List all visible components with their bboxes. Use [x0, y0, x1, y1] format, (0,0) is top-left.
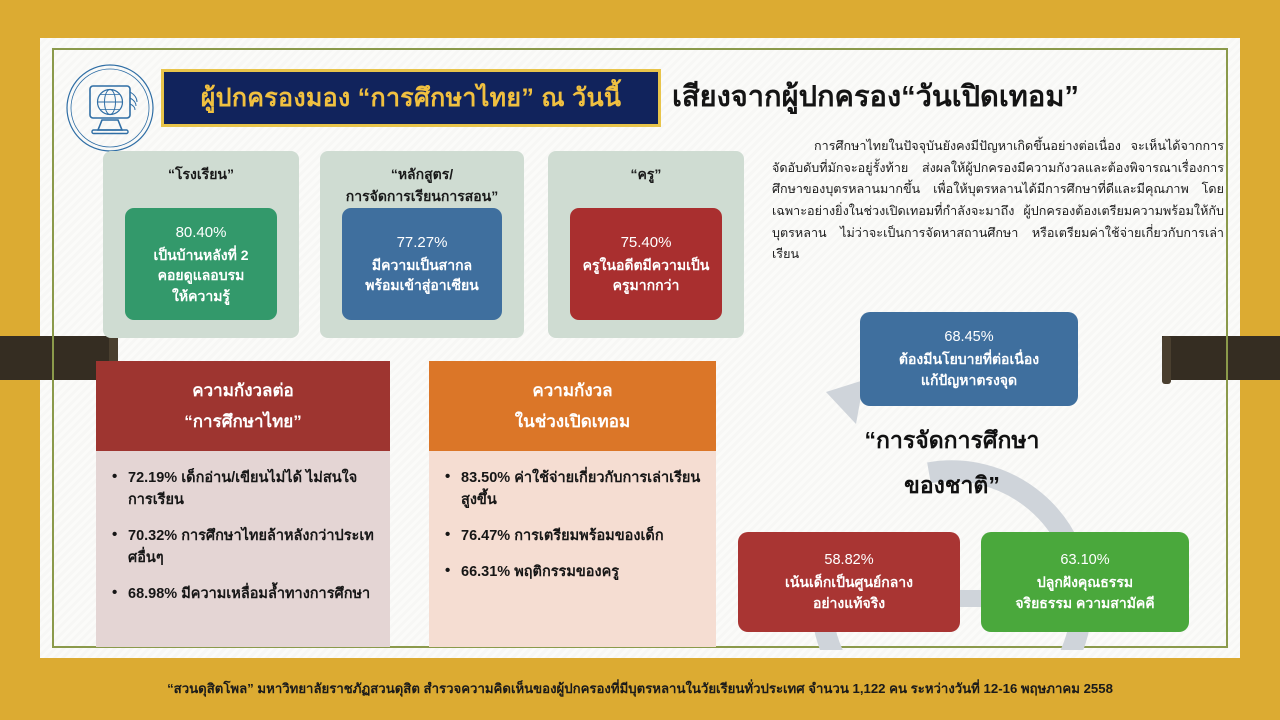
list-item: 76.47% การเตรียมพร้อมของเด็ก: [437, 525, 702, 547]
stat-percent: 80.40%: [176, 222, 227, 244]
header-subtitle: เสียงจากผู้ปกครอง“วันเปิดเทอม”: [672, 73, 1224, 119]
cycle-node-line: เน้นเด็กเป็นศูนย์กลาง: [785, 572, 913, 593]
stat-percent: 77.27%: [397, 232, 448, 254]
panel-header: ความกังวล ในช่วงเปิดเทอม: [429, 361, 716, 451]
stat-card-heading: “ครู”: [548, 164, 744, 186]
panel-header: ความกังวลต่อ “การศึกษาไทย”: [96, 361, 390, 451]
stat-card-school: “โรงเรียน” 80.40% เป็นบ้านหลังที่ 2 คอยด…: [103, 151, 299, 338]
cycle-node-percent: 68.45%: [944, 327, 993, 349]
panel-concern-school-opening: ความกังวล ในช่วงเปิดเทอม 83.50% ค่าใช้จ่…: [429, 361, 716, 647]
cycle-node-line: ต้องมีนโยบายที่ต่อเนื่อง: [899, 349, 1039, 370]
list-item: 66.31% พฤติกรรมของครู: [437, 561, 702, 583]
stat-desc-line: ครูมากกว่า: [613, 275, 680, 295]
panel-concern-thai-education: ความกังวลต่อ “การศึกษาไทย” 72.19% เด็กอ่…: [96, 361, 390, 647]
stat-card-heading-line1: “หลักสูตร/: [320, 164, 524, 186]
panel-list: 83.50% ค่าใช้จ่ายเกี่ยวกับการเล่าเรียนสู…: [437, 467, 702, 583]
cycle-node-line: อย่างแท้จริง: [813, 593, 885, 614]
cycle-node-line: แก้ปัญหาตรงจุด: [921, 370, 1017, 391]
intro-paragraph: การศึกษาไทยในปัจจุบันยังคงมีปัญหาเกิดขึ้…: [772, 136, 1224, 266]
cycle-node-percent: 58.82%: [824, 550, 873, 572]
stat-percent: 75.40%: [621, 232, 672, 254]
panel-header-line1: ความกังวล: [532, 375, 612, 406]
stat-card-curriculum: “หลักสูตร/ การจัดการเรียนการสอน” 77.27% …: [320, 151, 524, 338]
panel-body: 83.50% ค่าใช้จ่ายเกี่ยวกับการเล่าเรียนสู…: [429, 451, 716, 647]
stat-desc-line: พร้อมเข้าสู่อาเซียน: [365, 275, 478, 295]
stat-card-heading: “หลักสูตร/ การจัดการเรียนการสอน”: [320, 164, 524, 207]
header-title-box: ผู้ปกครองมอง “การศึกษาไทย” ณ วันนี้: [161, 69, 661, 127]
cycle-node-line: ปลูกฝังคุณธรรม: [1037, 572, 1133, 593]
cycle-node-child-centered: 58.82% เน้นเด็กเป็นศูนย์กลาง อย่างแท้จริ…: [738, 532, 960, 632]
panel-body: 72.19% เด็กอ่าน/เขียนไม่ได้ ไม่สนใจการเร…: [96, 451, 390, 647]
stat-card-heading: “โรงเรียน”: [103, 164, 299, 186]
stat-desc-line: มีความเป็นสากล: [372, 255, 472, 275]
cycle-center-line1: “การจัดการศึกษา: [752, 418, 1152, 463]
panel-list: 72.19% เด็กอ่าน/เขียนไม่ได้ ไม่สนใจการเร…: [104, 467, 376, 605]
cycle-node-policy: 68.45% ต้องมีนโยบายที่ต่อเนื่อง แก้ปัญหา…: [860, 312, 1078, 406]
infographic-root: ผู้ปกครองมอง “การศึกษาไทย” ณ วันนี้ เสีย…: [0, 0, 1280, 720]
panel-header-line2: “การศึกษาไทย”: [184, 406, 302, 437]
cycle-diagram: 68.45% ต้องมีนโยบายที่ต่อเนื่อง แก้ปัญหา…: [730, 300, 1190, 650]
stat-card-heading-line2: การจัดการเรียนการสอน”: [320, 186, 524, 208]
list-item: 70.32% การศึกษาไทยล้าหลังกว่าประเทศอื่นๆ: [104, 525, 376, 569]
stat-card-value-box: 80.40% เป็นบ้านหลังที่ 2 คอยดูแลอบรม ให้…: [125, 208, 277, 320]
stat-desc-line: ให้ความรู้: [172, 286, 230, 306]
university-seal-icon: [64, 62, 156, 154]
stat-card-teacher: “ครู” 75.40% ครูในอดีตมีความเป็น ครูมากก…: [548, 151, 744, 338]
cycle-center-line2: ของชาติ”: [752, 463, 1152, 508]
stat-desc-line: คอยดูแลอบรม: [158, 265, 245, 285]
list-item: 72.19% เด็กอ่าน/เขียนไม่ได้ ไม่สนใจการเร…: [104, 467, 376, 511]
stat-desc-line: เป็นบ้านหลังที่ 2: [153, 245, 248, 265]
footer-note: “สวนดุสิตโพล” มหาวิทยาลัยราชภัฏสวนดุสิต …: [0, 678, 1280, 699]
cycle-node-percent: 63.10%: [1060, 550, 1109, 572]
stat-desc-line: ครูในอดีตมีความเป็น: [583, 255, 710, 275]
page-title: ผู้ปกครองมอง “การศึกษาไทย” ณ วันนี้: [201, 78, 622, 118]
cycle-node-line: จริยธรรม ความสามัคคี: [1015, 593, 1154, 614]
cycle-node-morality: 63.10% ปลูกฝังคุณธรรม จริยธรรม ความสามัค…: [981, 532, 1189, 632]
list-item: 68.98% มีความเหลื่อมล้ำทางการศึกษา: [104, 583, 376, 605]
list-item: 83.50% ค่าใช้จ่ายเกี่ยวกับการเล่าเรียนสู…: [437, 467, 702, 511]
stat-card-value-box: 77.27% มีความเป็นสากล พร้อมเข้าสู่อาเซีย…: [342, 208, 502, 320]
stat-card-value-box: 75.40% ครูในอดีตมีความเป็น ครูมากกว่า: [570, 208, 722, 320]
panel-header-line1: ความกังวลต่อ: [192, 375, 293, 406]
panel-header-line2: ในช่วงเปิดเทอม: [515, 406, 630, 437]
cycle-center-label: “การจัดการศึกษา ของชาติ”: [752, 418, 1152, 508]
